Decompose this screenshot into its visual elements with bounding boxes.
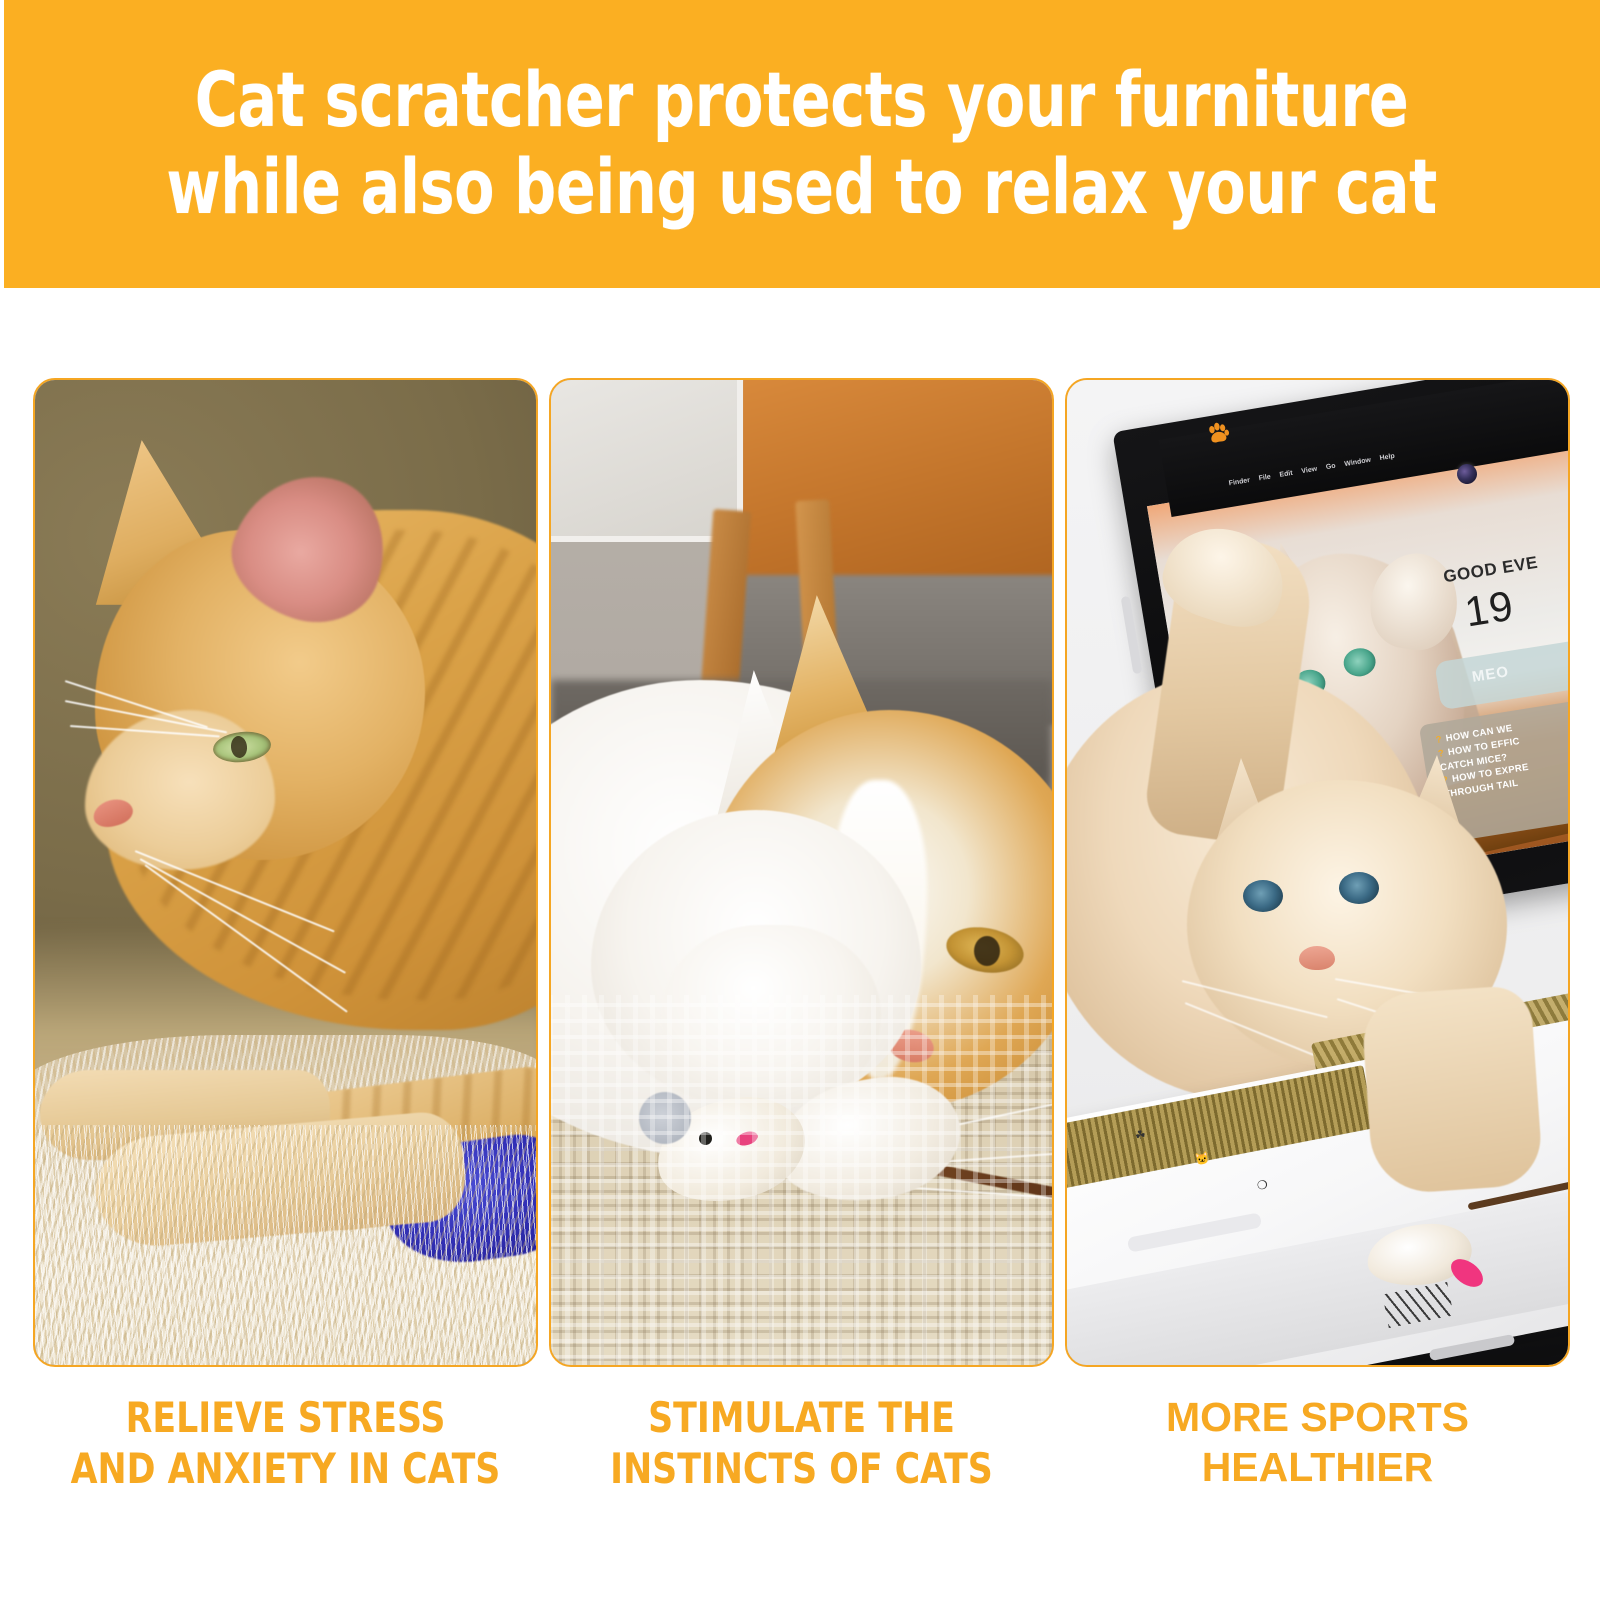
menu-item-file[interactable]: File bbox=[1258, 473, 1271, 482]
caption-more-sports: MORE SPORTS HEALTHIER bbox=[1065, 1386, 1570, 1566]
caption-row: RELIEVE STRESS AND ANXIETY IN CATS STIMU… bbox=[33, 1386, 1570, 1566]
kitten-foreleg-right bbox=[1360, 984, 1544, 1195]
paw-icon bbox=[1203, 418, 1233, 448]
kitten-eye-right bbox=[1339, 872, 1379, 904]
kitten-nose bbox=[1299, 946, 1335, 970]
menu-item-window[interactable]: Window bbox=[1344, 456, 1372, 467]
menu-item-go[interactable]: Go bbox=[1325, 462, 1336, 471]
photo-cat-with-mouse-toy bbox=[551, 380, 1052, 1365]
header-banner: Cat scratcher protects your furniture wh… bbox=[4, 0, 1600, 288]
page-title: Cat scratcher protects your furniture wh… bbox=[132, 57, 1471, 230]
panel-relieve-stress bbox=[33, 378, 538, 1367]
fish-bone-icon: ❍ bbox=[1256, 1177, 1269, 1193]
kitten-eye-left bbox=[1243, 880, 1283, 912]
sisal-mat-weave bbox=[551, 995, 1052, 1365]
panel-stimulate-instincts bbox=[549, 378, 1054, 1367]
menu-item-view[interactable]: View bbox=[1301, 465, 1318, 475]
photo-kitten-with-scratcher: Finder File Edit View Go Window Help GOO… bbox=[1067, 380, 1568, 1365]
sisal-mat-fibers bbox=[35, 1125, 536, 1365]
menu-item-help[interactable]: Help bbox=[1379, 452, 1395, 461]
photo-ginger-cat-on-mat bbox=[35, 380, 536, 1365]
question-mark-icon: ? bbox=[1437, 748, 1445, 760]
question-mark-icon: ? bbox=[1435, 734, 1443, 746]
cat-pupil-right bbox=[974, 936, 1000, 966]
caption-stimulate-instincts: STIMULATE THE INSTINCTS OF CATS bbox=[569, 1386, 1034, 1566]
menu-item-finder[interactable]: Finder bbox=[1228, 476, 1250, 486]
screen-clock: 19 bbox=[1462, 581, 1518, 636]
cat-face-icon: 🐱 bbox=[1194, 1151, 1211, 1168]
panel-more-sports: Finder File Edit View Go Window Help GOO… bbox=[1065, 378, 1570, 1367]
feature-panel-row: Finder File Edit View Go Window Help GOO… bbox=[33, 378, 1570, 1367]
menu-item-edit[interactable]: Edit bbox=[1279, 469, 1293, 478]
caption-relieve-stress: RELIEVE STRESS AND ANXIETY IN CATS bbox=[53, 1386, 518, 1566]
